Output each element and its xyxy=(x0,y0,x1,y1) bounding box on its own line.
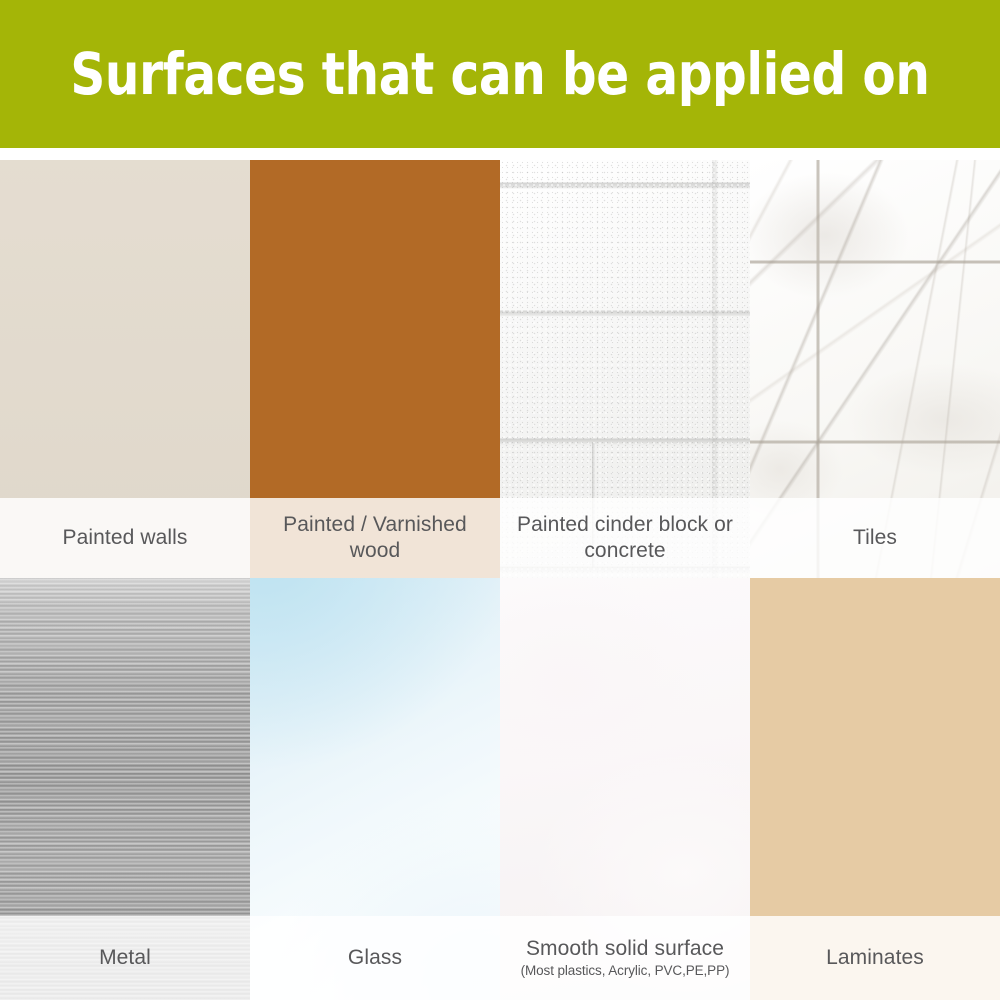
caption-laminates: Laminates xyxy=(750,916,1000,1000)
caption-metal: Metal xyxy=(0,916,250,1000)
surface-cell-metal[interactable]: Metal xyxy=(0,578,250,1000)
header-banner: Surfaces that can be applied on xyxy=(0,0,1000,148)
surface-cell-glass[interactable]: Glass xyxy=(250,578,500,1000)
caption-tiles: Tiles xyxy=(750,498,1000,578)
page-title: Surfaces that can be applied on xyxy=(61,45,939,103)
surface-label: Painted walls xyxy=(62,525,187,551)
surface-label: Laminates xyxy=(826,945,924,971)
surface-cell-tiles[interactable]: Tiles xyxy=(750,160,1000,578)
surface-cell-laminates[interactable]: Laminates xyxy=(750,578,1000,1000)
surface-label: Metal xyxy=(99,945,151,971)
surface-sublabel: (Most plastics, Acrylic, PVC,PE,PP) xyxy=(521,963,730,980)
surface-label: Painted / Varnished wood xyxy=(256,512,494,563)
surface-cell-smooth-solid-surface[interactable]: Smooth solid surface (Most plastics, Acr… xyxy=(500,578,750,1000)
surface-cell-painted-varnished-wood[interactable]: Painted / Varnished wood xyxy=(250,160,500,578)
surface-label: Smooth solid surface xyxy=(526,936,724,962)
surface-label: Painted cinder block or concrete xyxy=(506,512,744,563)
caption-painted-varnished-wood: Painted / Varnished wood xyxy=(250,498,500,578)
surface-cell-painted-walls[interactable]: Painted walls xyxy=(0,160,250,578)
surfaces-poster: Surfaces that can be applied on Painted … xyxy=(0,0,1000,1000)
surface-label: Glass xyxy=(348,945,402,971)
surface-label: Tiles xyxy=(853,525,897,551)
caption-smooth-solid-surface: Smooth solid surface (Most plastics, Acr… xyxy=(500,916,750,1000)
caption-painted-cinder-block: Painted cinder block or concrete xyxy=(500,498,750,578)
caption-painted-walls: Painted walls xyxy=(0,498,250,578)
caption-glass: Glass xyxy=(250,916,500,1000)
surface-cell-painted-cinder-block[interactable]: Painted cinder block or concrete xyxy=(500,160,750,578)
surface-grid: Painted walls Painted / Varnished wood P… xyxy=(0,160,1000,1000)
